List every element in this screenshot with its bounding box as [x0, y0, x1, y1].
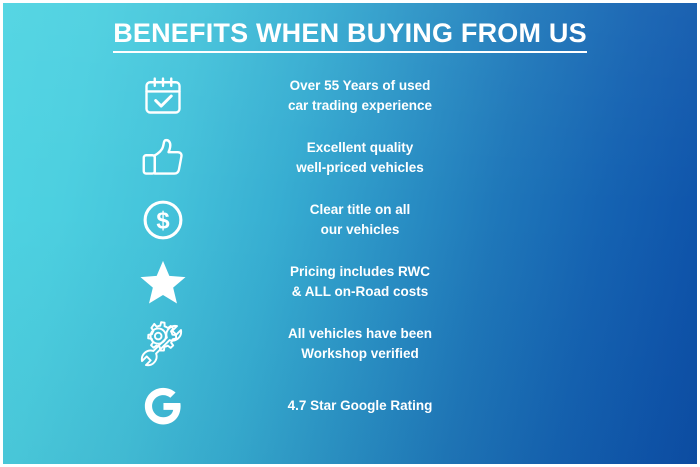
calendar-check-icon — [123, 68, 203, 124]
list-item-label: Pricing includes RWC & ALL on-Road costs — [203, 262, 523, 301]
list-item-label: All vehicles have been Workshop verified — [203, 324, 523, 363]
list-item: Excellent quality well-priced vehicles — [123, 127, 523, 189]
star-icon — [123, 254, 203, 310]
page-title: BENEFITS WHEN BUYING FROM US — [3, 19, 697, 53]
benefits-banner: BENEFITS WHEN BUYING FROM US Over 55 Yea… — [0, 0, 700, 467]
list-item: All vehicles have been Workshop verified — [123, 313, 523, 375]
list-item-label: 4.7 Star Google Rating — [203, 396, 523, 416]
list-item-label: Over 55 Years of used car trading experi… — [203, 76, 523, 115]
list-item: $ Clear title on all our vehicles — [123, 189, 523, 251]
benefits-list: Over 55 Years of used car trading experi… — [123, 65, 523, 437]
gear-wrench-icon — [123, 316, 203, 372]
dollar-circle-icon: $ — [123, 192, 203, 248]
list-item-label: Excellent quality well-priced vehicles — [203, 138, 523, 177]
list-item: Over 55 Years of used car trading experi… — [123, 65, 523, 127]
list-item-label: Clear title on all our vehicles — [203, 200, 523, 239]
page-title-text: BENEFITS WHEN BUYING FROM US — [113, 19, 587, 53]
list-item: Pricing includes RWC & ALL on-Road costs — [123, 251, 523, 313]
svg-text:$: $ — [156, 208, 169, 235]
thumbs-up-icon — [123, 130, 203, 186]
google-g-icon — [123, 378, 203, 434]
list-item: 4.7 Star Google Rating — [123, 375, 523, 437]
